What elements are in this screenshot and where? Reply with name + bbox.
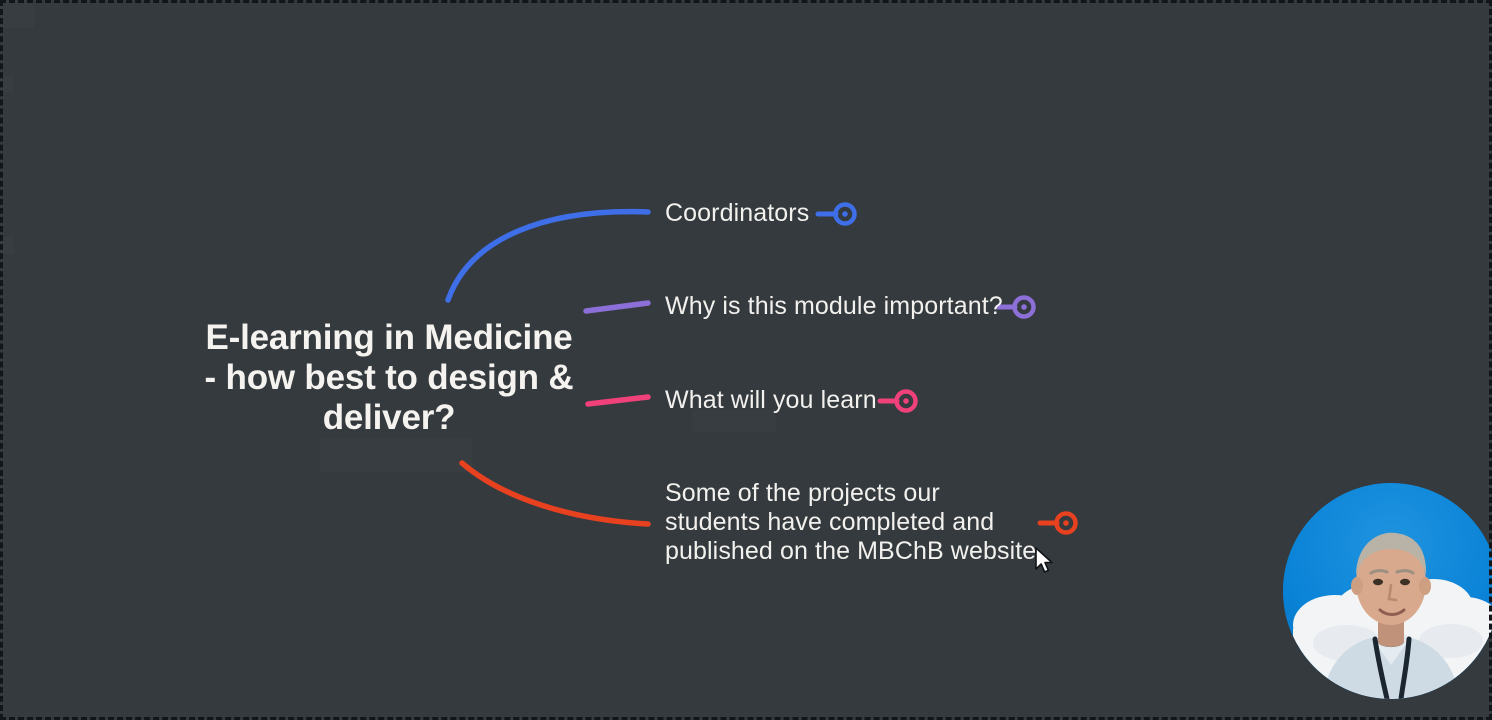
branch-label-coordinators[interactable]: Coordinators (665, 199, 809, 228)
connector-stub-learn (588, 397, 648, 404)
presentation-slide: E-learning in Medicine - how best to des… (0, 0, 1492, 720)
ring-node-icon-projects[interactable] (1040, 514, 1076, 533)
ring-node-icon-coordinators[interactable] (818, 205, 855, 224)
presenter-video-frame (1283, 483, 1492, 699)
central-topic: E-learning in Medicine - how best to des… (196, 318, 582, 438)
connector-curve-coordinators (448, 212, 648, 300)
branch-label-learn[interactable]: What will you learn (665, 386, 877, 415)
ring-node-icon-learn[interactable] (880, 392, 916, 411)
presenter-video-bubble[interactable] (1283, 483, 1492, 699)
branch-label-importance[interactable]: Why is this module important? (665, 292, 1003, 321)
connector-stub-importance (586, 303, 648, 311)
ring-node-icon-importance[interactable] (998, 298, 1034, 317)
connector-curve-projects (462, 463, 648, 524)
branch-label-projects[interactable]: Some of the projects our students have c… (665, 479, 1037, 566)
